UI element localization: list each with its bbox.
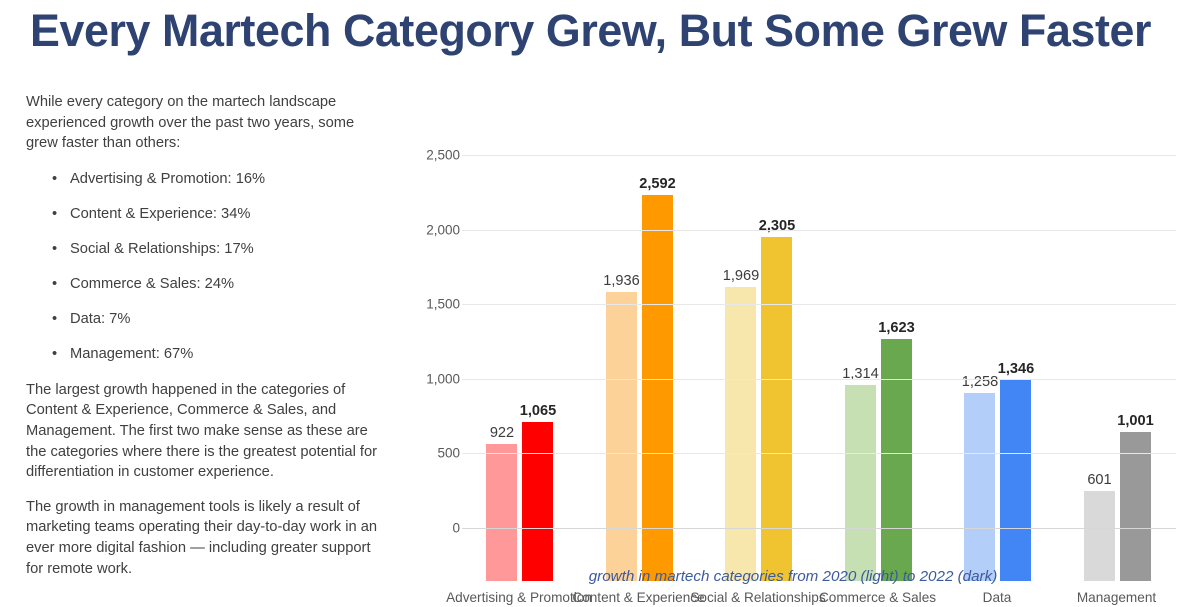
bar-value-label: 1,346 xyxy=(974,361,1058,377)
paragraph-largest-growth: The largest growth happened in the categ… xyxy=(26,380,388,483)
y-axis-tick-label: 0 xyxy=(402,521,460,536)
bullet-icon: • xyxy=(52,275,57,294)
paragraph-management-tools: The growth in management tools is likely… xyxy=(26,497,388,579)
bar[interactable] xyxy=(1000,380,1031,581)
list-item: • Commerce & Sales: 24% xyxy=(26,275,388,294)
bar[interactable] xyxy=(486,444,517,581)
bar-group: 1,9362,592Content & Experience xyxy=(606,171,673,581)
y-axis-tick-label: 2,000 xyxy=(402,222,460,237)
y-axis-tick-label: 1,500 xyxy=(402,297,460,312)
plot-area: 9221,065Advertising & Promotion1,9362,59… xyxy=(462,118,1176,581)
list-item: • Social & Relationships: 17% xyxy=(26,240,388,259)
bar[interactable] xyxy=(964,393,995,581)
bar[interactable] xyxy=(845,385,876,581)
x-axis-category-label: Management xyxy=(1042,589,1191,607)
bar[interactable] xyxy=(725,287,756,581)
list-item-label: Social & Relationships: 17% xyxy=(70,241,254,257)
list-item-label: Commerce & Sales: 24% xyxy=(70,276,234,292)
bar-value-label: 1,065 xyxy=(496,403,580,419)
bar-group: 6011,001Management xyxy=(1084,171,1151,581)
intro-paragraph: While every category on the martech land… xyxy=(26,92,388,154)
gridline xyxy=(462,230,1176,231)
chart-caption: growth in martech categories from 2020 (… xyxy=(398,568,1188,585)
y-axis-tick-label: 1,000 xyxy=(402,371,460,386)
bar[interactable] xyxy=(881,339,912,581)
list-item-label: Data: 7% xyxy=(70,311,130,327)
bar[interactable] xyxy=(761,237,792,581)
y-axis-tick-label: 2,500 xyxy=(402,148,460,163)
list-item: • Data: 7% xyxy=(26,310,388,329)
page-title: Every Martech Category Grew, But Some Gr… xyxy=(30,2,1164,60)
bullet-icon: • xyxy=(52,240,57,259)
bar-value-label: 2,305 xyxy=(735,218,819,234)
gridline xyxy=(462,304,1176,305)
gridline xyxy=(462,155,1176,156)
list-item-label: Content & Experience: 34% xyxy=(70,206,250,222)
gridline xyxy=(462,453,1176,454)
bar-value-label: 2,592 xyxy=(616,176,700,192)
gridline xyxy=(462,528,1176,529)
bullet-icon: • xyxy=(52,345,57,364)
bar-group: 1,3141,623Commerce & Sales xyxy=(845,171,912,581)
bar-group: 1,2581,346Data xyxy=(964,171,1031,581)
bar[interactable] xyxy=(642,195,673,581)
bullet-icon: • xyxy=(52,310,57,329)
bullet-icon: • xyxy=(52,170,57,189)
list-item: • Management: 67% xyxy=(26,345,388,364)
y-axis: 05001,0001,5002,0002,500 xyxy=(398,118,460,528)
gridline xyxy=(462,379,1176,380)
bar-group: 1,9692,305Social & Relationships xyxy=(725,171,792,581)
bullet-icon: • xyxy=(52,205,57,224)
category-growth-list: • Advertising & Promotion: 16% • Content… xyxy=(26,170,388,364)
list-item-label: Advertising & Promotion: 16% xyxy=(70,171,265,187)
bar-value-label: 1,001 xyxy=(1094,413,1178,429)
list-item: • Advertising & Promotion: 16% xyxy=(26,170,388,189)
narrative-column: While every category on the martech land… xyxy=(26,92,388,593)
list-item-label: Management: 67% xyxy=(70,346,193,362)
bar[interactable] xyxy=(606,292,637,581)
bar-group: 9221,065Advertising & Promotion xyxy=(486,171,553,581)
bar-chart: 05001,0001,5002,0002,500 9221,065Adverti… xyxy=(398,86,1188,603)
bar-value-label: 1,623 xyxy=(855,320,939,336)
y-axis-tick-label: 500 xyxy=(402,446,460,461)
list-item: • Content & Experience: 34% xyxy=(26,205,388,224)
bar[interactable] xyxy=(522,422,553,581)
